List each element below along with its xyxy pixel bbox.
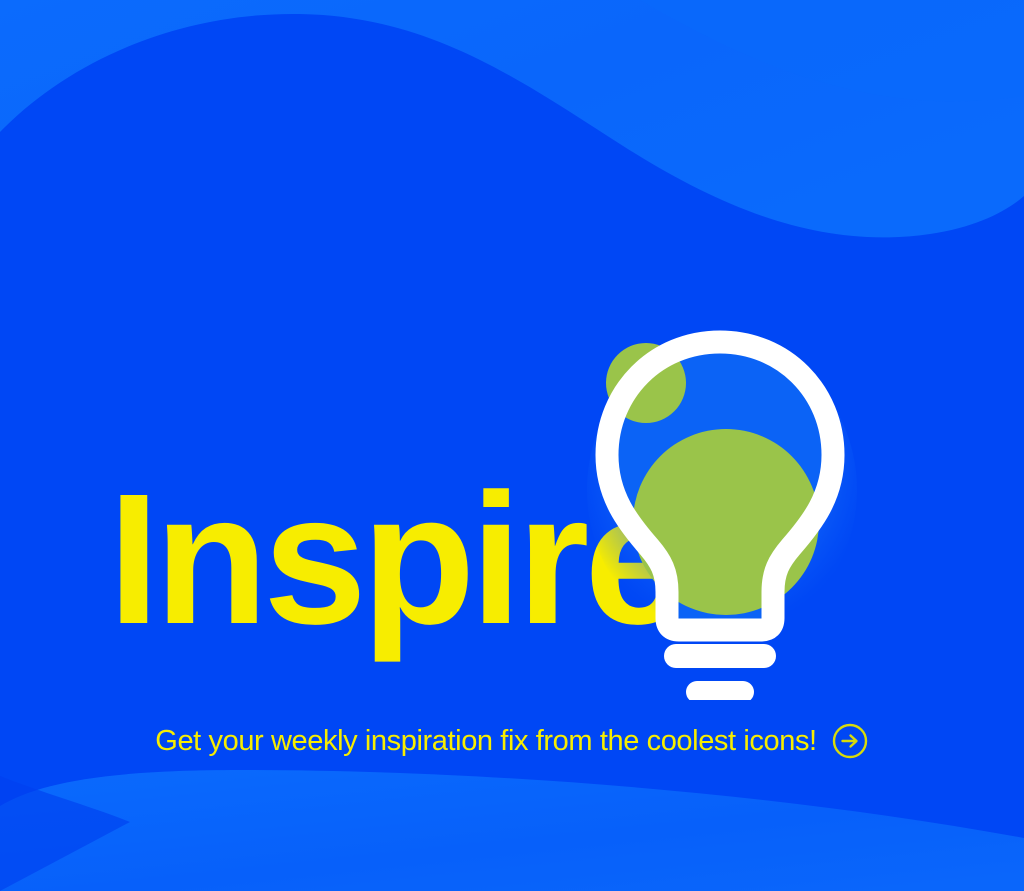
tagline-row: Get your weekly inspiration fix from the… <box>0 722 1024 760</box>
inspire-me-now-banner: Inspire Me Now Get your weekly inspirati… <box>0 0 1024 891</box>
bulb-base-bar-upper <box>664 644 776 668</box>
arrow-right-icon[interactable] <box>831 722 869 760</box>
tagline-text: Get your weekly inspiration fix from the… <box>155 725 816 758</box>
lightbulb-icon <box>560 300 880 700</box>
bulb-base-bar-lower <box>686 681 754 700</box>
